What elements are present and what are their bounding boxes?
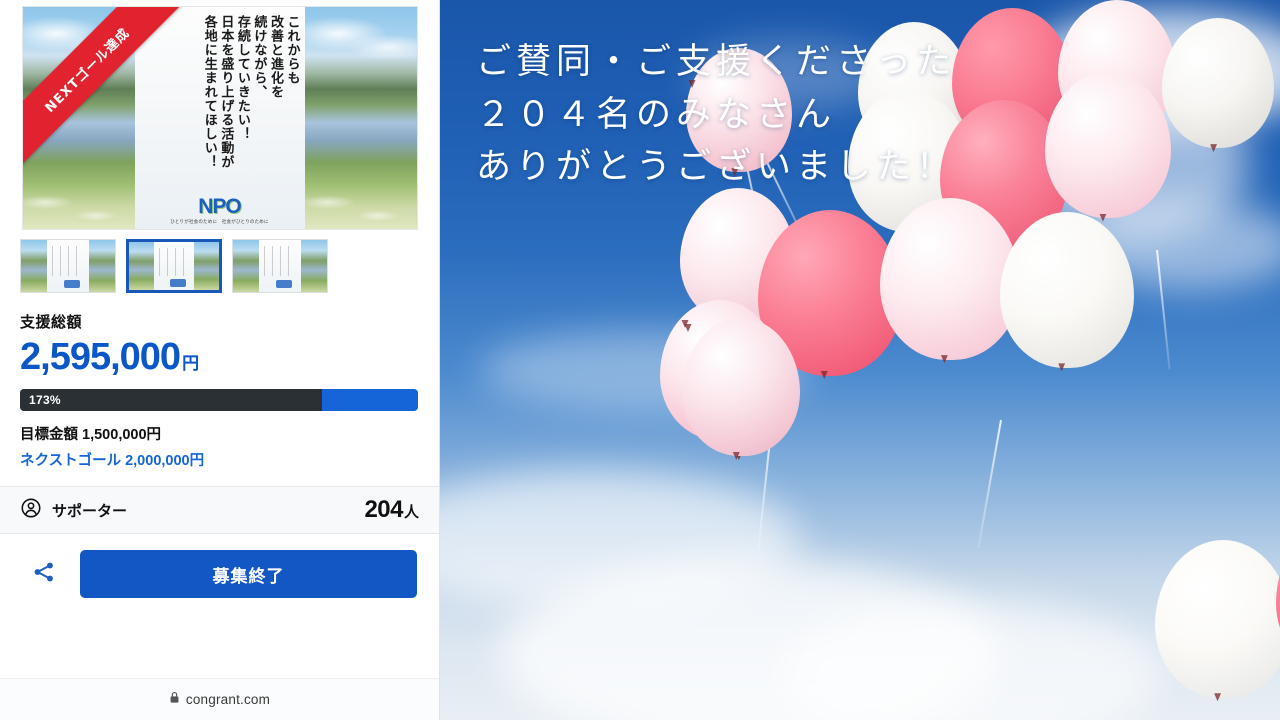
hero-vertical-text: これからも 改善と進化を 続けながら、 存続していきたい！ 日本を盛り上げる活動… <box>141 15 299 185</box>
hero-photo-left <box>23 7 135 229</box>
hero-vline-2: 改善と進化を <box>267 15 282 99</box>
lock-icon <box>169 691 180 709</box>
thumbnail-gallery <box>0 230 439 293</box>
thumbnail-2[interactable] <box>126 239 222 293</box>
thumbnail-3[interactable] <box>232 239 328 293</box>
balloon-lightpink-4 <box>880 198 1020 360</box>
hero-center-panel: これからも 改善と進化を 続けながら、 存続していきたい！ 日本を盛り上げる活動… <box>135 7 305 229</box>
supporter-count: 204 人 <box>364 496 419 524</box>
balloon-solo-pink <box>682 318 800 456</box>
next-goal-label: ネクストゴール 2,000,000円 <box>20 449 419 470</box>
app-screen: これからも 改善と進化を 続けながら、 存続していきたい！ 日本を盛り上げる活動… <box>0 0 1280 720</box>
total-raised-label: 支援総額 <box>20 311 419 332</box>
headline-line-3: ありがとうございました！ <box>476 141 956 194</box>
total-raised-amount: 2,595,000 円 <box>20 338 419 376</box>
headline-line-2: ２０４名のみなさん <box>476 89 956 142</box>
campaign-sidebar: これからも 改善と進化を 続けながら、 存続していきたい！ 日本を盛り上げる活動… <box>0 0 440 720</box>
celebration-image-panel: ご賛同・ご支援くださった ２０４名のみなさん ありがとうございました！ <box>440 0 1280 720</box>
hero-vline-5: 日本を盛り上げる活動が <box>218 15 233 169</box>
thumbnail-1[interactable] <box>20 239 116 293</box>
balloon-white-2 <box>1162 18 1274 148</box>
balloon-lightpink-2 <box>1045 72 1171 218</box>
balloon-white-4 <box>1000 212 1134 368</box>
progress-bar: 173% <box>20 389 418 411</box>
share-nodes-icon <box>31 559 57 590</box>
action-row: 募集終了 <box>0 534 439 598</box>
progress-percent-label: 173% <box>29 393 61 407</box>
npo-logo: NPO ひとりが社会のために 社会がひとりのために <box>135 196 305 225</box>
supporter-count-number: 204 <box>364 496 403 524</box>
thank-you-headline: ご賛同・ご支援くださった ２０４名のみなさん ありがとうございました！ <box>476 36 956 194</box>
hero-vline-6: 各地に生まれてほしい！ <box>201 15 216 169</box>
npo-logo-mark: NPO <box>135 196 305 217</box>
goal-amount-label: 目標金額 1,500,000円 <box>20 423 419 444</box>
supporter-left: サポーター <box>20 497 127 524</box>
person-circle-icon <box>20 497 42 524</box>
total-raised-currency: 円 <box>182 355 199 372</box>
hero-vline-1: これからも <box>284 15 299 85</box>
funding-summary: 支援総額 2,595,000 円 173% 目標金額 1,500,000円 ネク… <box>0 293 439 470</box>
url-bar[interactable]: congrant.com <box>0 678 439 720</box>
npo-logo-tagline: ひとりが社会のために 社会がひとりのために <box>135 219 305 225</box>
progress-bar-fill <box>20 389 322 411</box>
hero-vline-3: 続けながら、 <box>251 15 266 99</box>
url-text: congrant.com <box>186 692 270 707</box>
hero-photo-right <box>305 7 417 229</box>
supporter-row: サポーター 204 人 <box>0 486 439 534</box>
supporter-label: サポーター <box>52 500 127 521</box>
cta-button[interactable]: 募集終了 <box>80 550 417 598</box>
supporter-count-unit: 人 <box>404 501 419 522</box>
hero-vline-4: 存続していきたい！ <box>234 15 249 141</box>
headline-line-1: ご賛同・ご支援くださった <box>476 36 956 89</box>
share-button[interactable] <box>22 552 66 596</box>
total-raised-number: 2,595,000 <box>20 338 180 376</box>
hero-image[interactable]: これからも 改善と進化を 続けながら、 存続していきたい！ 日本を盛り上げる活動… <box>22 6 418 230</box>
